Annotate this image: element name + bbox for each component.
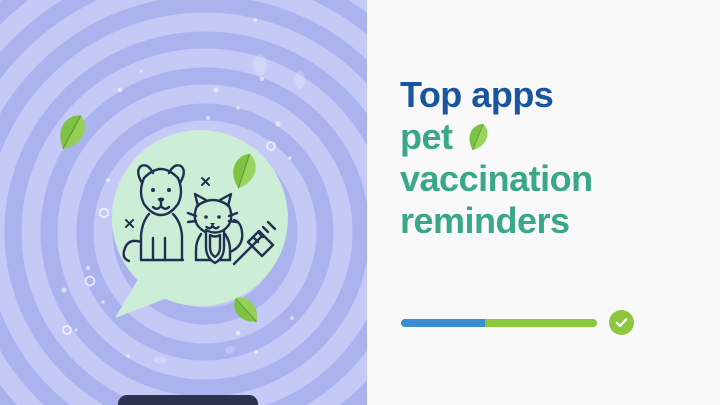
check-mark-icon — [614, 315, 629, 330]
shield-icon — [206, 230, 224, 263]
headline-block: Top apps pet vaccination reminders — [400, 74, 700, 242]
slide-canvas: Top apps pet vaccination reminders — [0, 0, 720, 405]
headline-line-3: vaccination — [400, 158, 700, 200]
progress-bar[interactable] — [401, 319, 597, 327]
headline-line-2-row: pet — [400, 116, 700, 158]
leaf-icon — [461, 120, 495, 154]
device-mockup-peek — [118, 395, 258, 405]
headline-line-2: pet — [400, 116, 453, 158]
check-circle-icon — [609, 310, 634, 335]
headline-panel: Top apps pet vaccination reminders — [367, 0, 720, 405]
headline-line-4: reminders — [400, 200, 700, 242]
progress-bar-fill — [401, 319, 485, 327]
headline-line-1: Top apps — [400, 74, 700, 116]
pet-lineart — [122, 160, 277, 275]
illustration-panel — [0, 0, 367, 405]
progress-row — [401, 310, 691, 335]
dog-icon — [124, 165, 184, 261]
